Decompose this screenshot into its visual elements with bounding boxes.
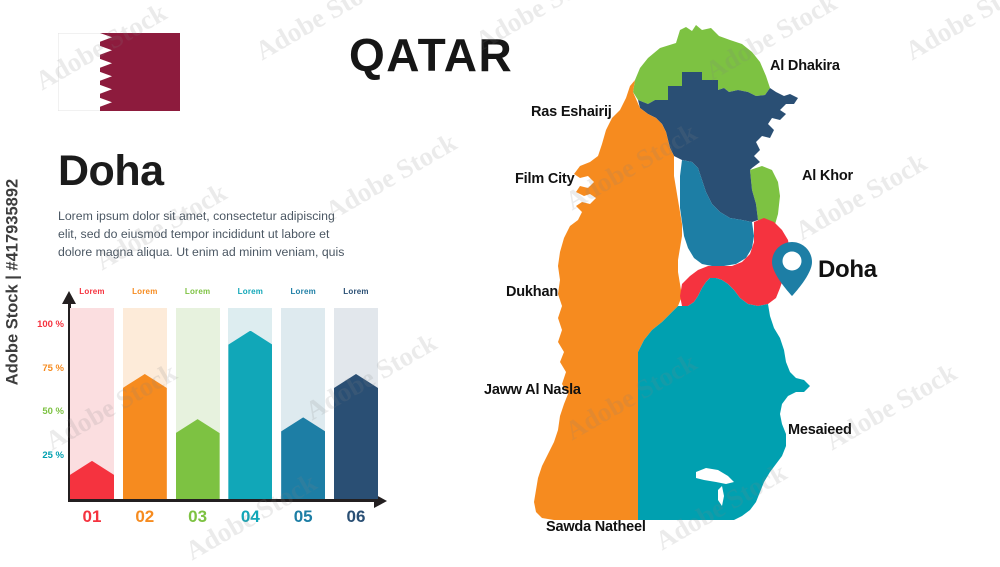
bar-value: [123, 374, 167, 499]
city-description: Lorem ipsum dolor sit amet, consectetur …: [58, 208, 350, 261]
qatar-map-svg: [430, 0, 1000, 563]
city-heading: Doha: [58, 150, 164, 193]
y-tick-75: 75 %: [42, 363, 64, 374]
flag-maroon-field: [100, 33, 180, 111]
map-label-film-city: Film City: [515, 171, 574, 187]
map-label-ras-eshairij: Ras Eshairij: [531, 104, 612, 120]
bar-top-label-05: Lorem: [281, 287, 325, 296]
x-axis-line: [68, 499, 378, 502]
bar-x-label-02: 02: [123, 507, 167, 527]
bar-column-03[interactable]: Lorem03: [176, 308, 220, 499]
map-label-sawda-natheel: Sawda Natheel: [546, 519, 646, 535]
bar-column-05[interactable]: Lorem05: [281, 308, 325, 499]
bar-value: [281, 417, 325, 499]
qatar-map: Al Dhakira Ras Eshairij Film City Al Kho…: [430, 0, 1000, 563]
map-label-doha: Doha: [818, 256, 877, 284]
bar-column-04[interactable]: Lorem04: [228, 308, 272, 499]
bar-x-label-04: 04: [228, 507, 272, 527]
bar-top-label-04: Lorem: [228, 287, 272, 296]
bar-x-label-01: 01: [70, 507, 114, 527]
bar-top-label-03: Lorem: [176, 287, 220, 296]
bar-value: [228, 331, 272, 499]
bar-column-02[interactable]: Lorem02: [123, 308, 167, 499]
bar-top-label-01: Lorem: [70, 287, 114, 296]
y-axis-tick-labels: 100 %75 %50 %25 %: [0, 288, 64, 503]
bar-x-label-05: 05: [281, 507, 325, 527]
bar-chart: 100 %75 %50 %25 % Lorem01Lorem02Lorem03L…: [0, 288, 400, 548]
bar-value: [334, 374, 378, 499]
bar-top-label-06: Lorem: [334, 287, 378, 296]
map-label-al-dhakira: Al Dhakira: [770, 58, 840, 74]
qatar-flag: [58, 33, 180, 111]
y-tick-100: 100 %: [37, 319, 64, 330]
bar-top-label-02: Lorem: [123, 287, 167, 296]
map-label-mesaieed: Mesaieed: [788, 422, 852, 438]
bar-column-01[interactable]: Lorem01: [70, 308, 114, 499]
map-label-al-khor: Al Khor: [802, 168, 853, 184]
bar-series: Lorem01Lorem02Lorem03Lorem04Lorem05Lorem…: [70, 308, 378, 499]
y-tick-50: 50 %: [42, 406, 64, 417]
bar-column-06[interactable]: Lorem06: [334, 308, 378, 499]
qatar-flag-svg: [58, 33, 180, 111]
bar-x-label-03: 03: [176, 507, 220, 527]
bar-x-label-06: 06: [334, 507, 378, 527]
bar-value: [176, 419, 220, 499]
y-tick-25: 25 %: [42, 450, 64, 461]
map-label-jaww-al-nasla: Jaww Al Nasla: [484, 382, 581, 398]
map-label-dukhan: Dukhan: [506, 284, 558, 300]
